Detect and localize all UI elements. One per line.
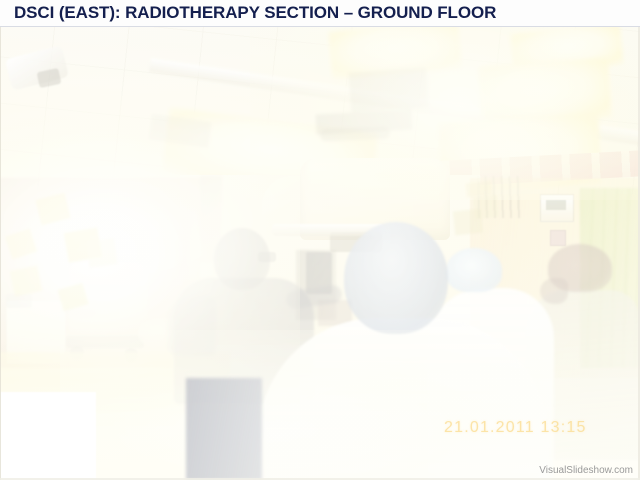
- page-title: DSCI (EAST): RADIOTHERAPY SECTION – GROU…: [14, 3, 496, 23]
- watermark-label: VisualSlideshow.com: [539, 465, 633, 476]
- lens-flare-top: [250, 0, 640, 200]
- foreground-visitor-head: [344, 222, 448, 334]
- lens-flare-bottom: [60, 330, 580, 480]
- slideshow-frame: DSCI (EAST): RADIOTHERAPY SECTION – GROU…: [0, 0, 640, 480]
- visitor-turban-head: [548, 244, 612, 292]
- camera-timestamp: 21.01.2011 13:15: [444, 419, 587, 437]
- flare-ghost-artifact: [453, 209, 483, 236]
- flare-ghost-artifact: [86, 238, 117, 268]
- frame-edge-left: [0, 27, 1, 480]
- wall-mounted-keypad: [550, 230, 566, 246]
- visitor-white-cap: [446, 248, 502, 292]
- photo-corner-highlight: [0, 392, 96, 480]
- radiotherapy-room-photo: [0, 0, 640, 480]
- photo-corner-shadow: [186, 378, 262, 480]
- control-panel-screen: [546, 200, 566, 210]
- slide-title-bar: DSCI (EAST): RADIOTHERAPY SECTION – GROU…: [0, 0, 640, 27]
